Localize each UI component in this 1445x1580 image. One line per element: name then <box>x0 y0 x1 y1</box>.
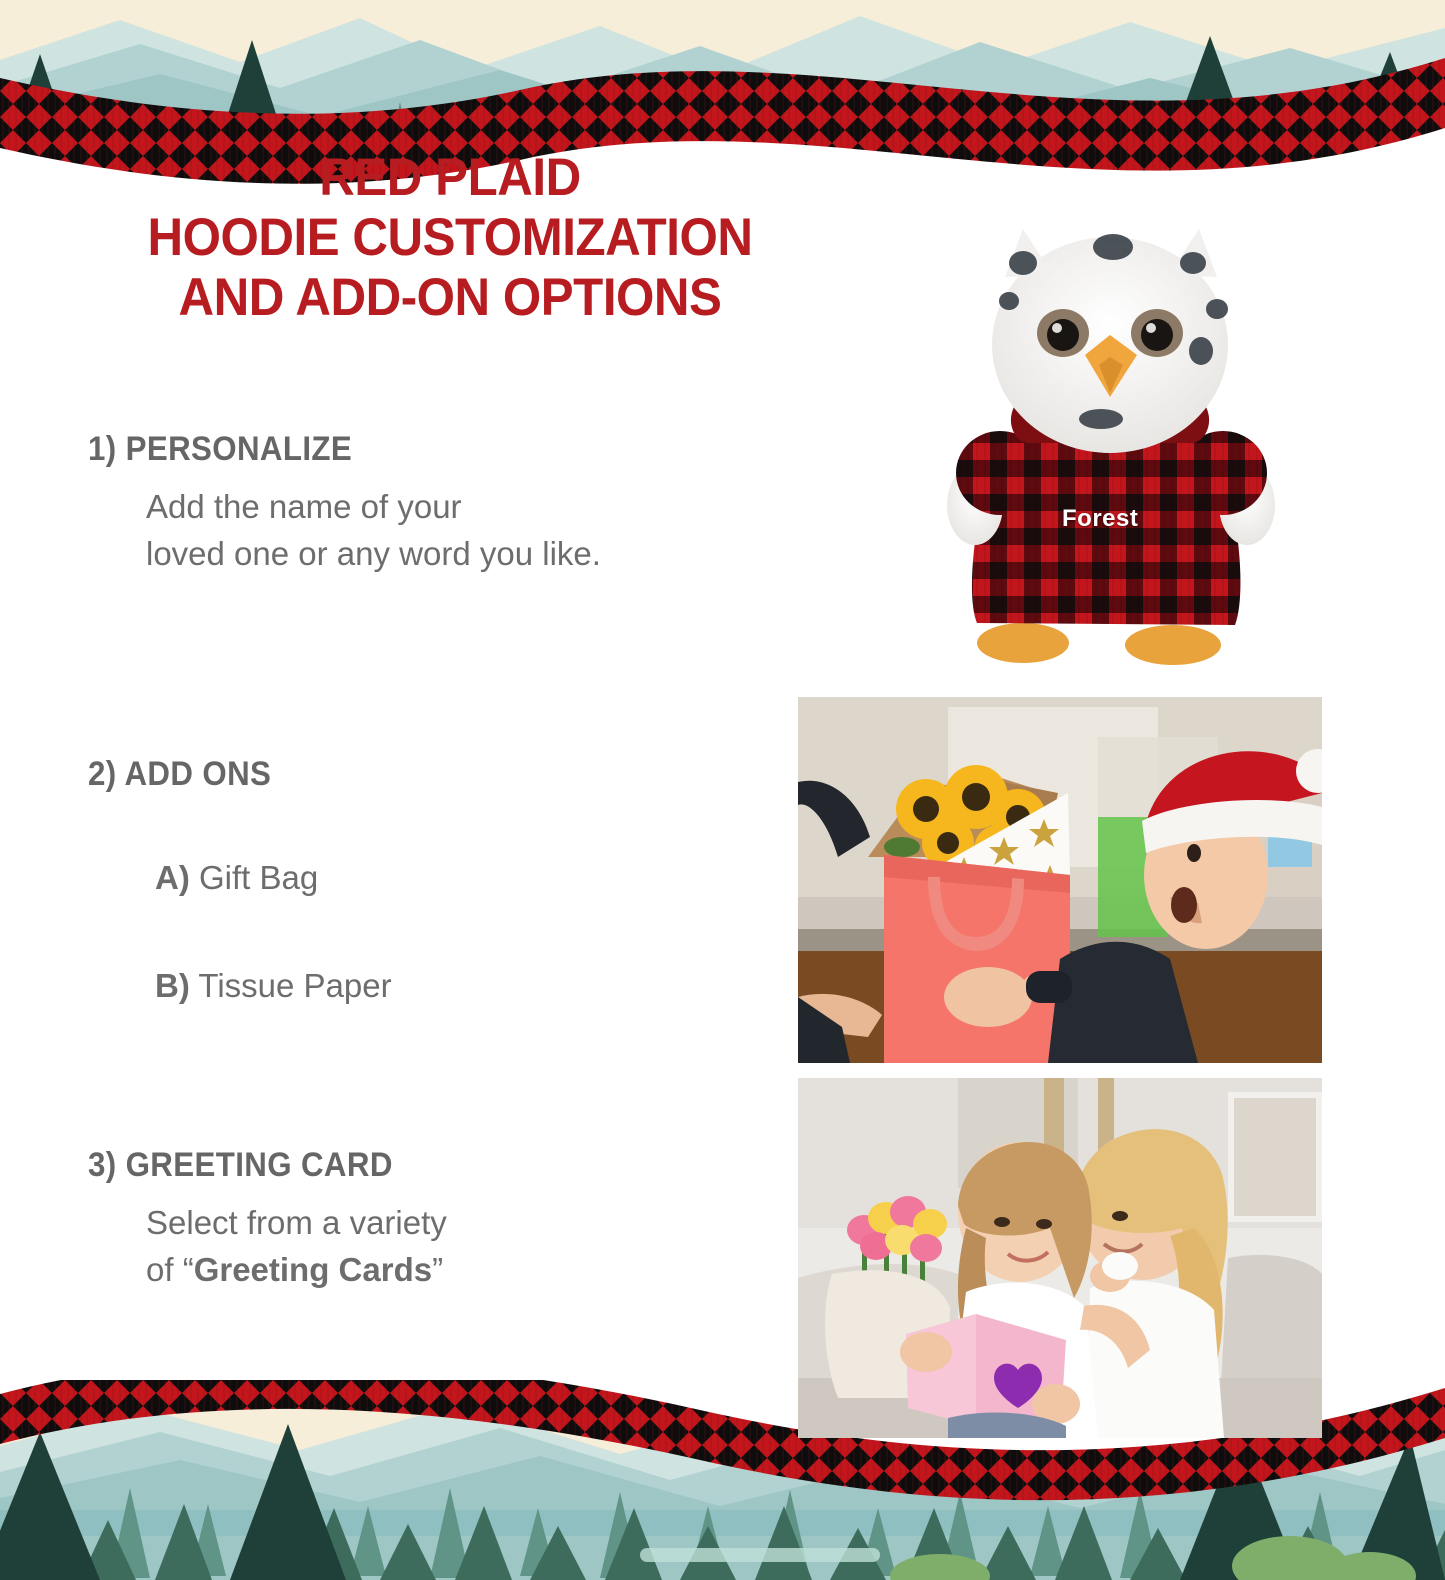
section-personalize: 1) PERSONALIZE Add the name of your love… <box>0 430 800 577</box>
section-heading-add-ons: 2) ADD ONS <box>88 755 743 794</box>
product-photo-owl-plush <box>905 205 1315 675</box>
add-on-letter-a: A) <box>155 859 190 896</box>
section-body-greeting-card: Select from a variety of “Greeting Cards… <box>146 1199 800 1293</box>
greeting-body-line-1: Select from a variety <box>146 1199 800 1246</box>
section-add-ons: 2) ADD ONS A) Gift Bag B) Tissue Paper <box>0 755 800 1006</box>
infographic-page: RED PLAID HOODIE CUSTOMIZATION AND ADD-O… <box>0 0 1445 1580</box>
options-list: 1) PERSONALIZE Add the name of your love… <box>0 430 800 1293</box>
embroidered-name-forest: Forest <box>1062 505 1138 533</box>
section-body-personalize: Add the name of your loved one or any wo… <box>146 483 800 577</box>
title-line-3: AND ADD-ON OPTIONS <box>32 268 869 328</box>
title-line-1: RED PLAID <box>32 148 869 208</box>
section-greeting-card: 3) GREETING CARD Select from a variety o… <box>0 1146 800 1293</box>
photo-greeting-card <box>798 1078 1322 1438</box>
section-heading-greeting-card: 3) GREETING CARD <box>88 1146 743 1185</box>
add-on-item-gift-bag: A) Gift Bag <box>155 858 800 898</box>
add-on-label-gift-bag: Gift Bag <box>199 859 318 896</box>
section-heading-personalize: 1) PERSONALIZE <box>88 430 743 469</box>
photo-gift-bag <box>798 697 1322 1063</box>
greeting-quote-prefix: of “ <box>146 1251 194 1288</box>
page-title: RED PLAID HOODIE CUSTOMIZATION AND ADD-O… <box>0 148 900 328</box>
greeting-quote-bold: Greeting Cards <box>194 1251 432 1288</box>
personalize-body-line-2: loved one or any word you like. <box>146 530 800 577</box>
greeting-body-line-2: of “Greeting Cards” <box>146 1246 800 1293</box>
title-line-2: HOODIE CUSTOMIZATION <box>32 208 869 268</box>
add-on-label-tissue-paper: Tissue Paper <box>198 967 391 1004</box>
add-on-letter-b: B) <box>155 967 190 1004</box>
personalize-body-line-1: Add the name of your <box>146 483 800 530</box>
greeting-quote-suffix: ” <box>432 1251 443 1288</box>
add-on-item-tissue-paper: B) Tissue Paper <box>155 966 800 1006</box>
